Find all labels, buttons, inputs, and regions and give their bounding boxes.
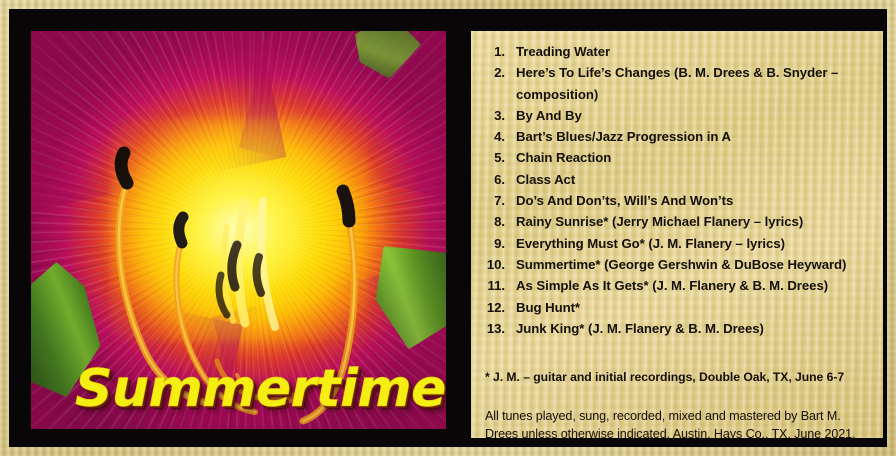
track-number: 1.	[483, 41, 516, 62]
track-number: 10.	[483, 254, 516, 275]
track-title: Treading Water	[516, 41, 877, 62]
track-row: 7. Do’s And Don’ts, Will’s And Won’ts	[483, 190, 877, 211]
track-number: 3.	[483, 105, 516, 126]
track-row: 8. Rainy Sunrise* (Jerry Michael Flanery…	[483, 211, 877, 232]
track-number: 2.	[483, 62, 516, 83]
track-row: 4. Bart’s Blues/Jazz Progression in A	[483, 126, 877, 147]
track-row: 9. Everything Must Go* (J. M. Flanery – …	[483, 233, 877, 254]
track-number: 8.	[483, 211, 516, 232]
album-artwork-panel: Summertime	[31, 31, 446, 429]
track-title: Rainy Sunrise* (Jerry Michael Flanery – …	[516, 211, 877, 232]
track-row: 11. As Simple As It Gets* (J. M. Flanery…	[483, 275, 877, 296]
track-number: 9.	[483, 233, 516, 254]
track-number: 6.	[483, 169, 516, 190]
track-title: By And By	[516, 105, 877, 126]
track-row: 1. Treading Water	[483, 41, 877, 62]
track-title: Bart’s Blues/Jazz Progression in A	[516, 126, 877, 147]
credits-line-2: Drees unless otherwise indicated, Austin…	[485, 426, 875, 439]
credits-line-1: All tunes played, sung, recorded, mixed …	[485, 408, 875, 426]
track-number: 5.	[483, 147, 516, 168]
track-title: Bug Hunt*	[516, 297, 877, 318]
track-row: 6. Class Act	[483, 169, 877, 190]
track-number: 11.	[483, 275, 516, 296]
track-list: 1. Treading Water 2. Here’s To Life’s Ch…	[483, 41, 877, 339]
album-title: Summertime	[75, 363, 446, 415]
track-row: 12. Bug Hunt*	[483, 297, 877, 318]
cd-tray-background: Summertime 1. Treading Water 2. Here’s T…	[0, 0, 896, 456]
track-row: 5. Chain Reaction	[483, 147, 877, 168]
track-title: Summertime* (George Gershwin & DuBose He…	[516, 254, 877, 275]
track-title: Here’s To Life’s Changes (B. M. Drees & …	[516, 62, 877, 105]
track-number: 7.	[483, 190, 516, 211]
track-number: 4.	[483, 126, 516, 147]
guest-musician-footnote: * J. M. – guitar and initial recordings,…	[485, 369, 875, 385]
track-title: Do’s And Don’ts, Will’s And Won’ts	[516, 190, 877, 211]
track-row: 10. Summertime* (George Gershwin & DuBos…	[483, 254, 877, 275]
black-inner-frame: Summertime 1. Treading Water 2. Here’s T…	[9, 9, 887, 447]
production-credits: All tunes played, sung, recorded, mixed …	[485, 408, 875, 438]
track-title: Chain Reaction	[516, 147, 877, 168]
track-title: As Simple As It Gets* (J. M. Flanery & B…	[516, 275, 877, 296]
track-number: 12.	[483, 297, 516, 318]
liner-notes-panel: 1. Treading Water 2. Here’s To Life’s Ch…	[471, 31, 883, 438]
track-title: Class Act	[516, 169, 877, 190]
track-row: 2. Here’s To Life’s Changes (B. M. Drees…	[483, 62, 877, 105]
track-number: 13.	[483, 318, 516, 339]
track-row: 13. Junk King* (J. M. Flanery & B. M. Dr…	[483, 318, 877, 339]
track-title: Everything Must Go* (J. M. Flanery – lyr…	[516, 233, 877, 254]
track-row: 3. By And By	[483, 105, 877, 126]
track-title: Junk King* (J. M. Flanery & B. M. Drees)	[516, 318, 877, 339]
